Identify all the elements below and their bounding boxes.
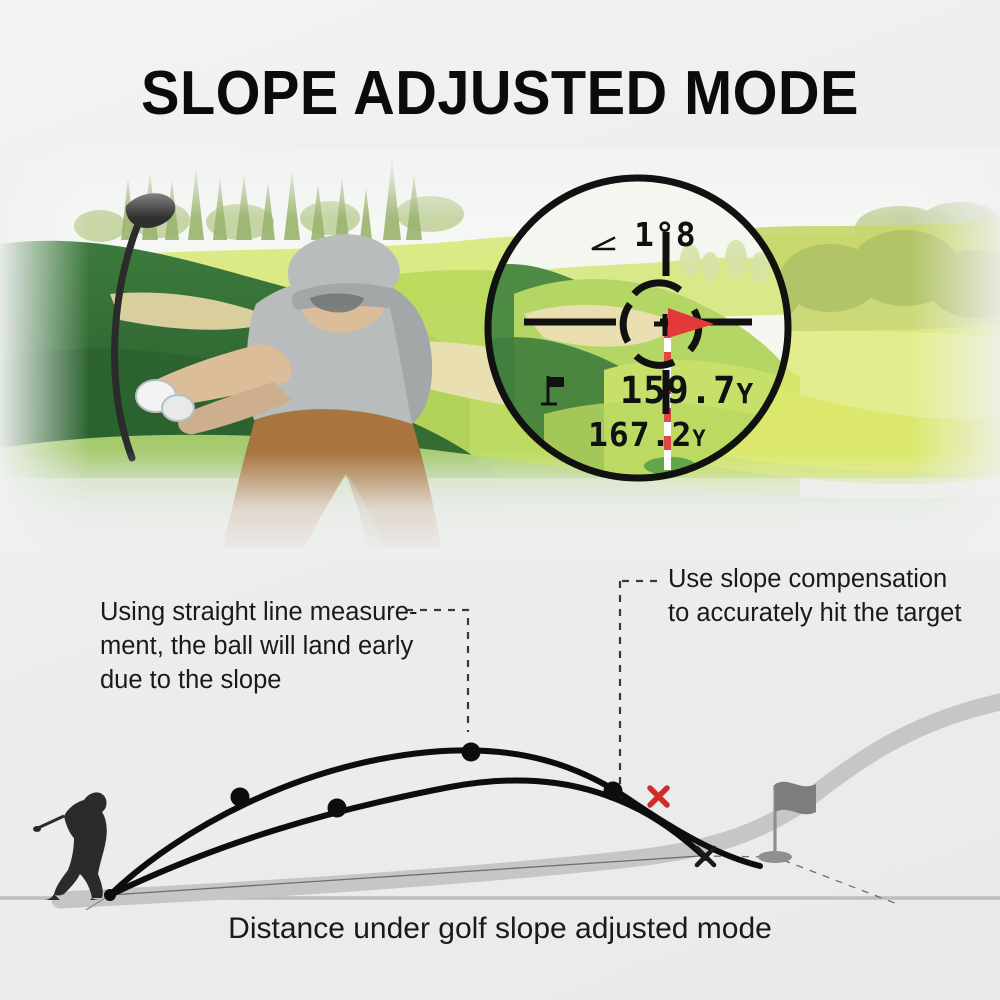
distance-primary-unit: Y (736, 377, 754, 410)
distance-secondary-unit: Y (692, 427, 706, 452)
slope-line (60, 702, 1000, 900)
trajectory-diagram (0, 560, 1000, 910)
ball-marker (231, 788, 250, 807)
ball-marker (604, 782, 623, 801)
page-title: SLOPE ADJUSTED MODE (35, 58, 965, 129)
ball-marker (462, 743, 481, 762)
rangefinder-viewfinder: 1°8 159.7Y 167.2Y (484, 174, 792, 482)
angle-readout: 1°8 (634, 218, 697, 251)
ball-marker (328, 799, 347, 818)
tee-origin-dot (104, 889, 116, 901)
infographic-page: SLOPE ADJUSTED MODE (0, 0, 1000, 1000)
distance-primary-readout: 159.7Y (620, 372, 754, 409)
miss-marker-x (650, 788, 667, 805)
flag-icon (540, 374, 570, 406)
distance-primary-value: 159.7 (620, 369, 736, 412)
distance-secondary-readout: 167.2Y (588, 418, 707, 451)
sight-line-solid (110, 856, 700, 895)
angle-icon (590, 236, 616, 252)
golfer-silhouette-icon (33, 792, 107, 900)
diagram-caption: Distance under golf slope adjusted mode (0, 912, 1000, 946)
distance-secondary-value: 167.2 (588, 415, 692, 454)
leader-line-left (406, 610, 468, 732)
